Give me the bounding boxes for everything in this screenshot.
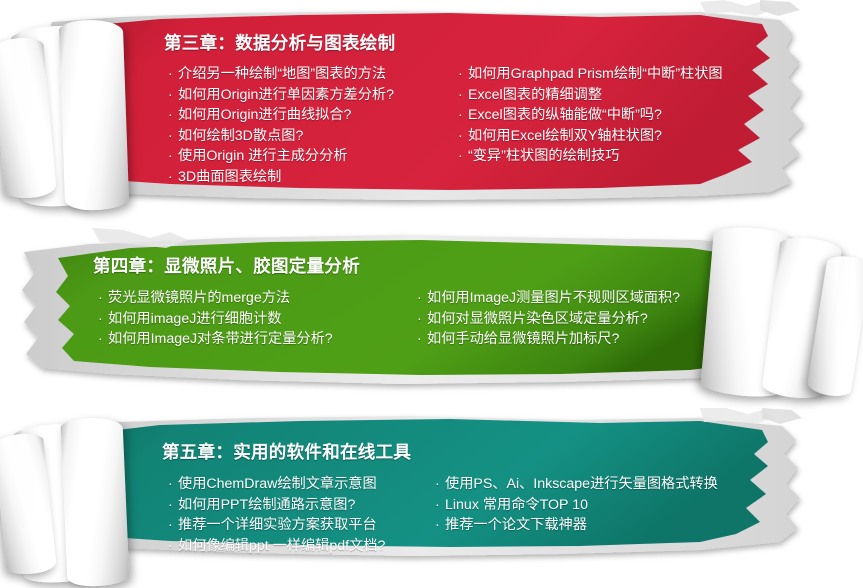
list-item-label: 如何像编辑ppt 一样编辑pdf文档?	[178, 538, 385, 554]
list-item: ·使用ChemDraw绘制文章示意图	[168, 474, 423, 495]
list-item-label: 如何用imageJ进行细胞计数	[108, 311, 281, 327]
list-item-label: 使用ChemDraw绘制文章示意图	[178, 476, 377, 492]
list-item: ·如何用imageJ进行细胞计数	[98, 309, 413, 330]
list-item-label: 如何用Origin进行单因素方差分析?	[178, 87, 394, 103]
bullet-dot: ·	[168, 146, 178, 167]
bullet-dot: ·	[458, 146, 468, 167]
list-item: ·Linux 常用命令TOP 10	[435, 495, 755, 516]
list-item-label: 如何用Graphpad Prism绘制“中断”柱状图	[468, 66, 723, 82]
list-item-label: Excel图表的纵轴能做“中断”吗?	[468, 107, 662, 123]
list-item: ·如何用Excel绘制双Y轴柱状图?	[458, 126, 758, 147]
bullet-dot: ·	[168, 515, 178, 536]
bullet-dot: ·	[168, 85, 178, 106]
list-item: ·如何用ImageJ对条带进行定量分析?	[98, 329, 413, 350]
list-item: ·推荐一个详细实验方案获取平台	[168, 515, 423, 536]
list-item: ·如何手动给显微镜照片加标尺?	[417, 329, 737, 350]
chapter-5-left-list: ·使用ChemDraw绘制文章示意图 ·如何用PPT绘制通路示意图? ·推荐一个…	[168, 474, 423, 556]
chapter-3-title: 第三章：数据分析与图表绘制	[164, 30, 863, 55]
bullet-dot: ·	[417, 329, 427, 350]
chapter-4-title: 第四章：显微照片、胶图定量分析	[93, 253, 863, 278]
bullet-dot: ·	[417, 309, 427, 330]
chapter-3-right-list: ·如何用Graphpad Prism绘制“中断”柱状图 ·Excel图表的精细调…	[458, 64, 758, 188]
list-item-label: 如何绘制3D散点图?	[178, 128, 303, 144]
bullet-dot: ·	[98, 329, 108, 350]
list-item-label: 如何用Origin进行曲线拟合?	[178, 107, 351, 123]
chapter-5-right-list: ·使用PS、Ai、Inkscape进行矢量图格式转换 ·Linux 常用命令TO…	[435, 474, 755, 556]
list-item-label: 如何用Excel绘制双Y轴柱状图?	[468, 128, 662, 144]
list-item-label: 使用PS、Ai、Inkscape进行矢量图格式转换	[445, 476, 718, 492]
list-item: ·如何用PPT绘制通路示意图?	[168, 495, 423, 516]
list-item: ·推荐一个论文下载神器	[435, 515, 755, 536]
list-item-label: 如何手动给显微镜照片加标尺?	[427, 331, 619, 347]
bullet-dot: ·	[417, 288, 427, 309]
bullet-dot: ·	[168, 167, 178, 188]
bullet-dot: ·	[168, 536, 178, 557]
bullet-dot: ·	[458, 105, 468, 126]
chapter-5-banner: 第五章：实用的软件和在线工具 ·使用ChemDraw绘制文章示意图 ·如何用PP…	[0, 408, 863, 585]
list-item: ·Excel图表的精细调整	[458, 85, 758, 106]
list-item-label: 如何用PPT绘制通路示意图?	[178, 497, 355, 513]
bullet-dot: ·	[435, 474, 445, 495]
list-item-label: “变异”柱状图的绘制技巧	[468, 148, 619, 164]
list-item: ·如何对显微照片染色区域定量分析?	[417, 309, 737, 330]
list-item: ·如何绘制3D散点图?	[168, 126, 448, 147]
chapter-4-right-list: ·如何用ImageJ测量图片不规则区域面积? ·如何对显微照片染色区域定量分析?…	[417, 288, 737, 350]
bullet-dot: ·	[435, 515, 445, 536]
chapter-4-left-list: ·荧光显微镜照片的merge方法 ·如何用imageJ进行细胞计数 ·如何用Im…	[98, 288, 413, 350]
bullet-dot: ·	[435, 495, 445, 516]
chapter-4-banner: 第四章：显微照片、胶图定量分析 ·荧光显微镜照片的merge方法 ·如何用ima…	[0, 228, 863, 393]
list-item: ·“变异”柱状图的绘制技巧	[458, 146, 758, 167]
bullet-dot: ·	[168, 495, 178, 516]
list-item: ·荧光显微镜照片的merge方法	[98, 288, 413, 309]
bullet-dot: ·	[458, 126, 468, 147]
list-item: ·3D曲面图表绘制	[168, 167, 448, 188]
list-item: ·如何用Origin进行曲线拟合?	[168, 105, 448, 126]
list-item: ·使用Origin 进行主成分分析	[168, 146, 448, 167]
chapter-5-title: 第五章：实用的软件和在线工具	[162, 439, 863, 464]
bullet-dot: ·	[168, 126, 178, 147]
list-item-label: 如何用ImageJ测量图片不规则区域面积?	[427, 290, 680, 306]
list-item-label: 介绍另一种绘制“地图”图表的方法	[178, 66, 386, 82]
list-item-label: Excel图表的精细调整	[468, 87, 602, 103]
chapter-5-content: 第五章：实用的软件和在线工具 ·使用ChemDraw绘制文章示意图 ·如何用PP…	[0, 408, 863, 556]
list-item: ·如何用ImageJ测量图片不规则区域面积?	[417, 288, 737, 309]
bullet-dot: ·	[168, 474, 178, 495]
list-item-label: Linux 常用命令TOP 10	[445, 497, 588, 513]
list-item-label: 如何用ImageJ对条带进行定量分析?	[108, 331, 333, 347]
bullet-dot: ·	[168, 105, 178, 126]
list-item: ·使用PS、Ai、Inkscape进行矢量图格式转换	[435, 474, 755, 495]
chapter-3-content: 第三章：数据分析与图表绘制 ·介绍另一种绘制“地图”图表的方法 ·如何用Orig…	[0, 0, 863, 188]
list-item: ·介绍另一种绘制“地图”图表的方法	[168, 64, 448, 85]
bullet-dot: ·	[98, 309, 108, 330]
bullet-dot: ·	[458, 85, 468, 106]
bullet-dot: ·	[458, 64, 468, 85]
list-item-label: 3D曲面图表绘制	[178, 169, 281, 185]
list-item: ·Excel图表的纵轴能做“中断”吗?	[458, 105, 758, 126]
list-item-label: 使用Origin 进行主成分分析	[178, 148, 347, 164]
chapter-3-left-list: ·介绍另一种绘制“地图”图表的方法 ·如何用Origin进行单因素方差分析? ·…	[168, 64, 448, 188]
list-item: ·如何像编辑ppt 一样编辑pdf文档?	[168, 536, 423, 557]
list-item: ·如何用Origin进行单因素方差分析?	[168, 85, 448, 106]
torn-paper-poster: 第三章：数据分析与图表绘制 ·介绍另一种绘制“地图”图表的方法 ·如何用Orig…	[0, 0, 863, 585]
bullet-dot: ·	[168, 64, 178, 85]
list-item: ·如何用Graphpad Prism绘制“中断”柱状图	[458, 64, 758, 85]
chapter-4-content: 第四章：显微照片、胶图定量分析 ·荧光显微镜照片的merge方法 ·如何用ima…	[0, 228, 863, 350]
chapter-3-banner: 第三章：数据分析与图表绘制 ·介绍另一种绘制“地图”图表的方法 ·如何用Orig…	[0, 0, 863, 215]
list-item-label: 荧光显微镜照片的merge方法	[108, 290, 290, 306]
list-item-label: 推荐一个论文下载神器	[445, 517, 587, 533]
list-item-label: 如何对显微照片染色区域定量分析?	[427, 311, 648, 327]
bullet-dot: ·	[98, 288, 108, 309]
list-item-label: 推荐一个详细实验方案获取平台	[178, 517, 377, 533]
